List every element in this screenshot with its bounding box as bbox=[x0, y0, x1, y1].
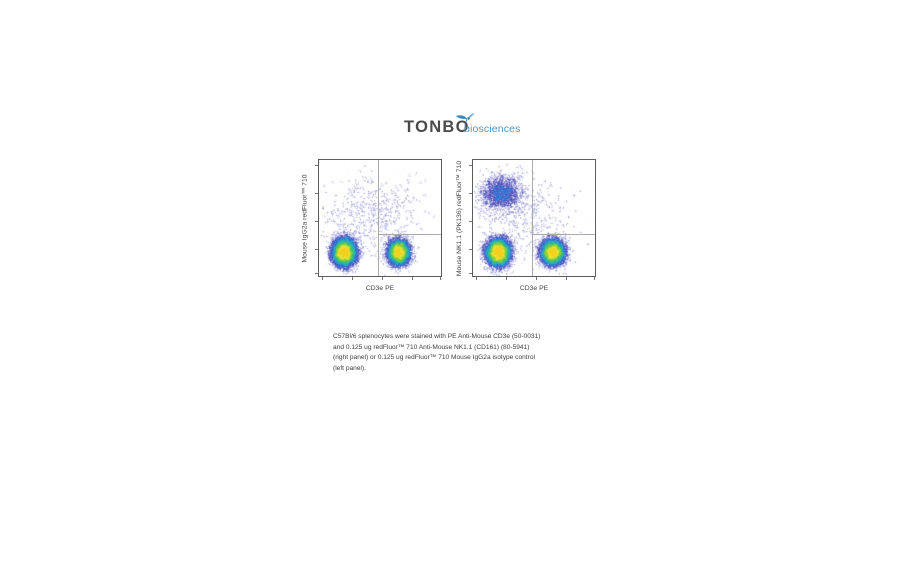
x-axis-label-left: CD3e PE bbox=[318, 285, 442, 292]
plot-frame-left bbox=[318, 159, 442, 277]
y-tick-2 bbox=[315, 221, 318, 222]
quadrant-divider-horizontal-left bbox=[378, 234, 442, 235]
scatter-canvas-right bbox=[473, 160, 596, 277]
figure-caption: C57Bl/6 splenocytes were stained with PE… bbox=[333, 332, 583, 375]
caption-line-1: C57Bl/6 splenocytes were stained with PE… bbox=[333, 332, 583, 343]
y-axis-label-right: Mouse NK1.1 (PK136) redFluor™ 710 bbox=[454, 159, 465, 277]
y-tick-0 bbox=[315, 165, 318, 166]
y-axis-label-text-right: Mouse NK1.1 (PK136) redFluor™ 710 bbox=[456, 160, 463, 275]
y-tick-4 bbox=[315, 273, 318, 274]
x-tick-1 bbox=[506, 277, 507, 280]
x-tick-3 bbox=[412, 277, 413, 280]
y-tick-1 bbox=[315, 193, 318, 194]
tonbo-logo: TONBO biosciences bbox=[404, 113, 534, 141]
quadrant-divider-vertical-right bbox=[532, 160, 533, 277]
y-tick-3 bbox=[315, 249, 318, 250]
y-tick-0 bbox=[469, 165, 472, 166]
y-tick-3 bbox=[469, 249, 472, 250]
x-tick-2 bbox=[536, 277, 537, 280]
x-tick-3 bbox=[566, 277, 567, 280]
x-tick-4 bbox=[594, 277, 595, 280]
caption-line-2: and 0.125 ug redFluor™ 710 Anti-Mouse NK… bbox=[333, 343, 583, 354]
x-tick-1 bbox=[352, 277, 353, 280]
x-tick-0 bbox=[476, 277, 477, 280]
y-tick-4 bbox=[469, 273, 472, 274]
x-tick-0 bbox=[322, 277, 323, 280]
logo-subtext: biosciences bbox=[464, 124, 521, 135]
scatter-canvas-left bbox=[319, 160, 442, 277]
x-tick-2 bbox=[382, 277, 383, 280]
x-axis-label-right: CD3e PE bbox=[472, 285, 596, 292]
y-tick-1 bbox=[469, 193, 472, 194]
quadrant-divider-vertical-left bbox=[378, 160, 379, 277]
y-axis-label-left: Mouse IgG2a redFluor™ 710 bbox=[300, 159, 311, 277]
y-tick-2 bbox=[469, 221, 472, 222]
y-axis-label-text-left: Mouse IgG2a redFluor™ 710 bbox=[302, 174, 309, 262]
caption-line-4: (left panel). bbox=[333, 364, 583, 375]
quadrant-divider-horizontal-right bbox=[532, 234, 596, 235]
x-tick-4 bbox=[440, 277, 441, 280]
plot-frame-right bbox=[472, 159, 596, 277]
caption-line-3: (right panel) or 0.125 ug redFluor™ 710 … bbox=[333, 353, 583, 364]
